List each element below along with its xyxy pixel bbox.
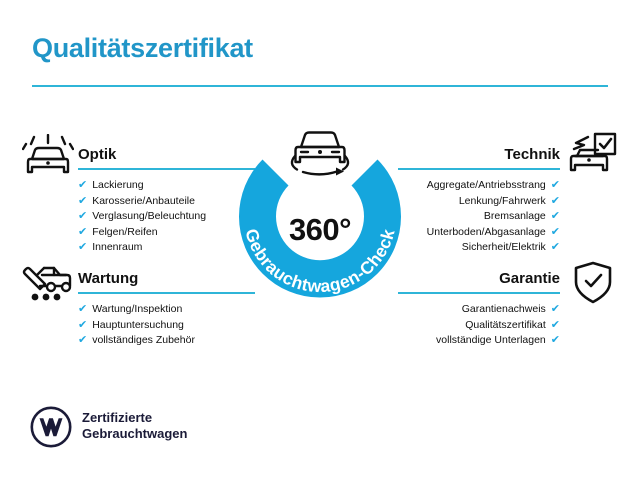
list-item-label: Bremsanlage: [484, 209, 546, 225]
check-icon: ✔: [551, 335, 560, 346]
list-item-label: Karosserie/Anbauteile: [92, 194, 195, 210]
car-hood-checkbox-icon: [566, 132, 618, 178]
check-icon: ✔: [551, 180, 560, 191]
list-item-label: vollständige Unterlagen: [436, 333, 546, 349]
list-item-label: Verglasung/Beleuchtung: [92, 209, 206, 225]
section-title-technik: Technik: [398, 146, 560, 164]
list-item: Lenkung/Fahrwerk✔: [398, 194, 560, 210]
section-technik: Technik Aggregate/Antriebsstrang✔ Lenkun…: [398, 146, 560, 256]
check-icon: ✔: [551, 227, 560, 238]
car-rotate-360-icon: [282, 124, 358, 180]
car-shine-icon: [22, 134, 74, 180]
check-icon: ✔: [78, 196, 87, 207]
list-item: Garantienachweis✔: [398, 302, 560, 318]
list-item-label: Innenraum: [92, 240, 142, 256]
car-wrench-icon: [22, 262, 74, 308]
section-garantie: Garantie Garantienachweis✔ Qualitätszert…: [398, 270, 560, 349]
check-icon: ✔: [551, 242, 560, 253]
check-icon: ✔: [78, 304, 87, 315]
check-icon: ✔: [78, 227, 87, 238]
list-item: ✔vollständiges Zubehör: [78, 333, 255, 349]
shield-check-icon: [572, 260, 614, 306]
list-item-label: Lenkung/Fahrwerk: [459, 194, 546, 210]
check-icon: ✔: [551, 304, 560, 315]
list-item: Sicherheit/Elektrik✔: [398, 240, 560, 256]
check-icon: ✔: [78, 335, 87, 346]
section-divider-technik: [398, 168, 560, 170]
list-item: Qualitätszertifikat✔: [398, 318, 560, 334]
footer-line-2: Gebrauchtwagen: [82, 426, 187, 442]
header-divider: [32, 85, 608, 87]
footer-line-1: Zertifizierte: [82, 410, 187, 426]
check-icon: ✔: [551, 320, 560, 331]
vw-roundel-logo: [30, 406, 72, 448]
check-icon: ✔: [78, 242, 87, 253]
list-item-label: Felgen/Reifen: [92, 225, 157, 241]
list-item-label: Garantienachweis: [462, 302, 546, 318]
list-item-label: Lackierung: [92, 178, 143, 194]
section-divider-garantie: [398, 292, 560, 294]
badge-center-label: 360°: [222, 212, 418, 248]
list-item: Unterboden/Abgasanlage✔: [398, 225, 560, 241]
list-item-label: vollständiges Zubehör: [92, 333, 195, 349]
list-item: vollständige Unterlagen✔: [398, 333, 560, 349]
list-item-label: Unterboden/Abgasanlage: [427, 225, 546, 241]
list-item-label: Wartung/Inspektion: [92, 302, 182, 318]
list-item-label: Hauptuntersuchung: [92, 318, 184, 334]
list-item: ✔Hauptuntersuchung: [78, 318, 255, 334]
list-item: Aggregate/Antriebsstrang✔: [398, 178, 560, 194]
check-icon: ✔: [78, 320, 87, 331]
checklist-garantie: Garantienachweis✔ Qualitätszertifikat✔ v…: [398, 302, 560, 349]
list-item-label: Aggregate/Antriebsstrang: [427, 178, 546, 194]
check-icon: ✔: [551, 211, 560, 222]
page-title: Qualitätszertifikat: [32, 33, 253, 64]
check-icon: ✔: [551, 196, 560, 207]
check-icon: ✔: [78, 180, 87, 191]
checklist-technik: Aggregate/Antriebsstrang✔ Lenkung/Fahrwe…: [398, 178, 560, 256]
section-title-garantie: Garantie: [398, 270, 560, 288]
list-item-label: Sicherheit/Elektrik: [462, 240, 546, 256]
list-item: Bremsanlage✔: [398, 209, 560, 225]
check-icon: ✔: [78, 211, 87, 222]
footer-brand-text: Zertifizierte Gebrauchtwagen: [82, 410, 187, 442]
list-item-label: Qualitätszertifikat: [465, 318, 546, 334]
